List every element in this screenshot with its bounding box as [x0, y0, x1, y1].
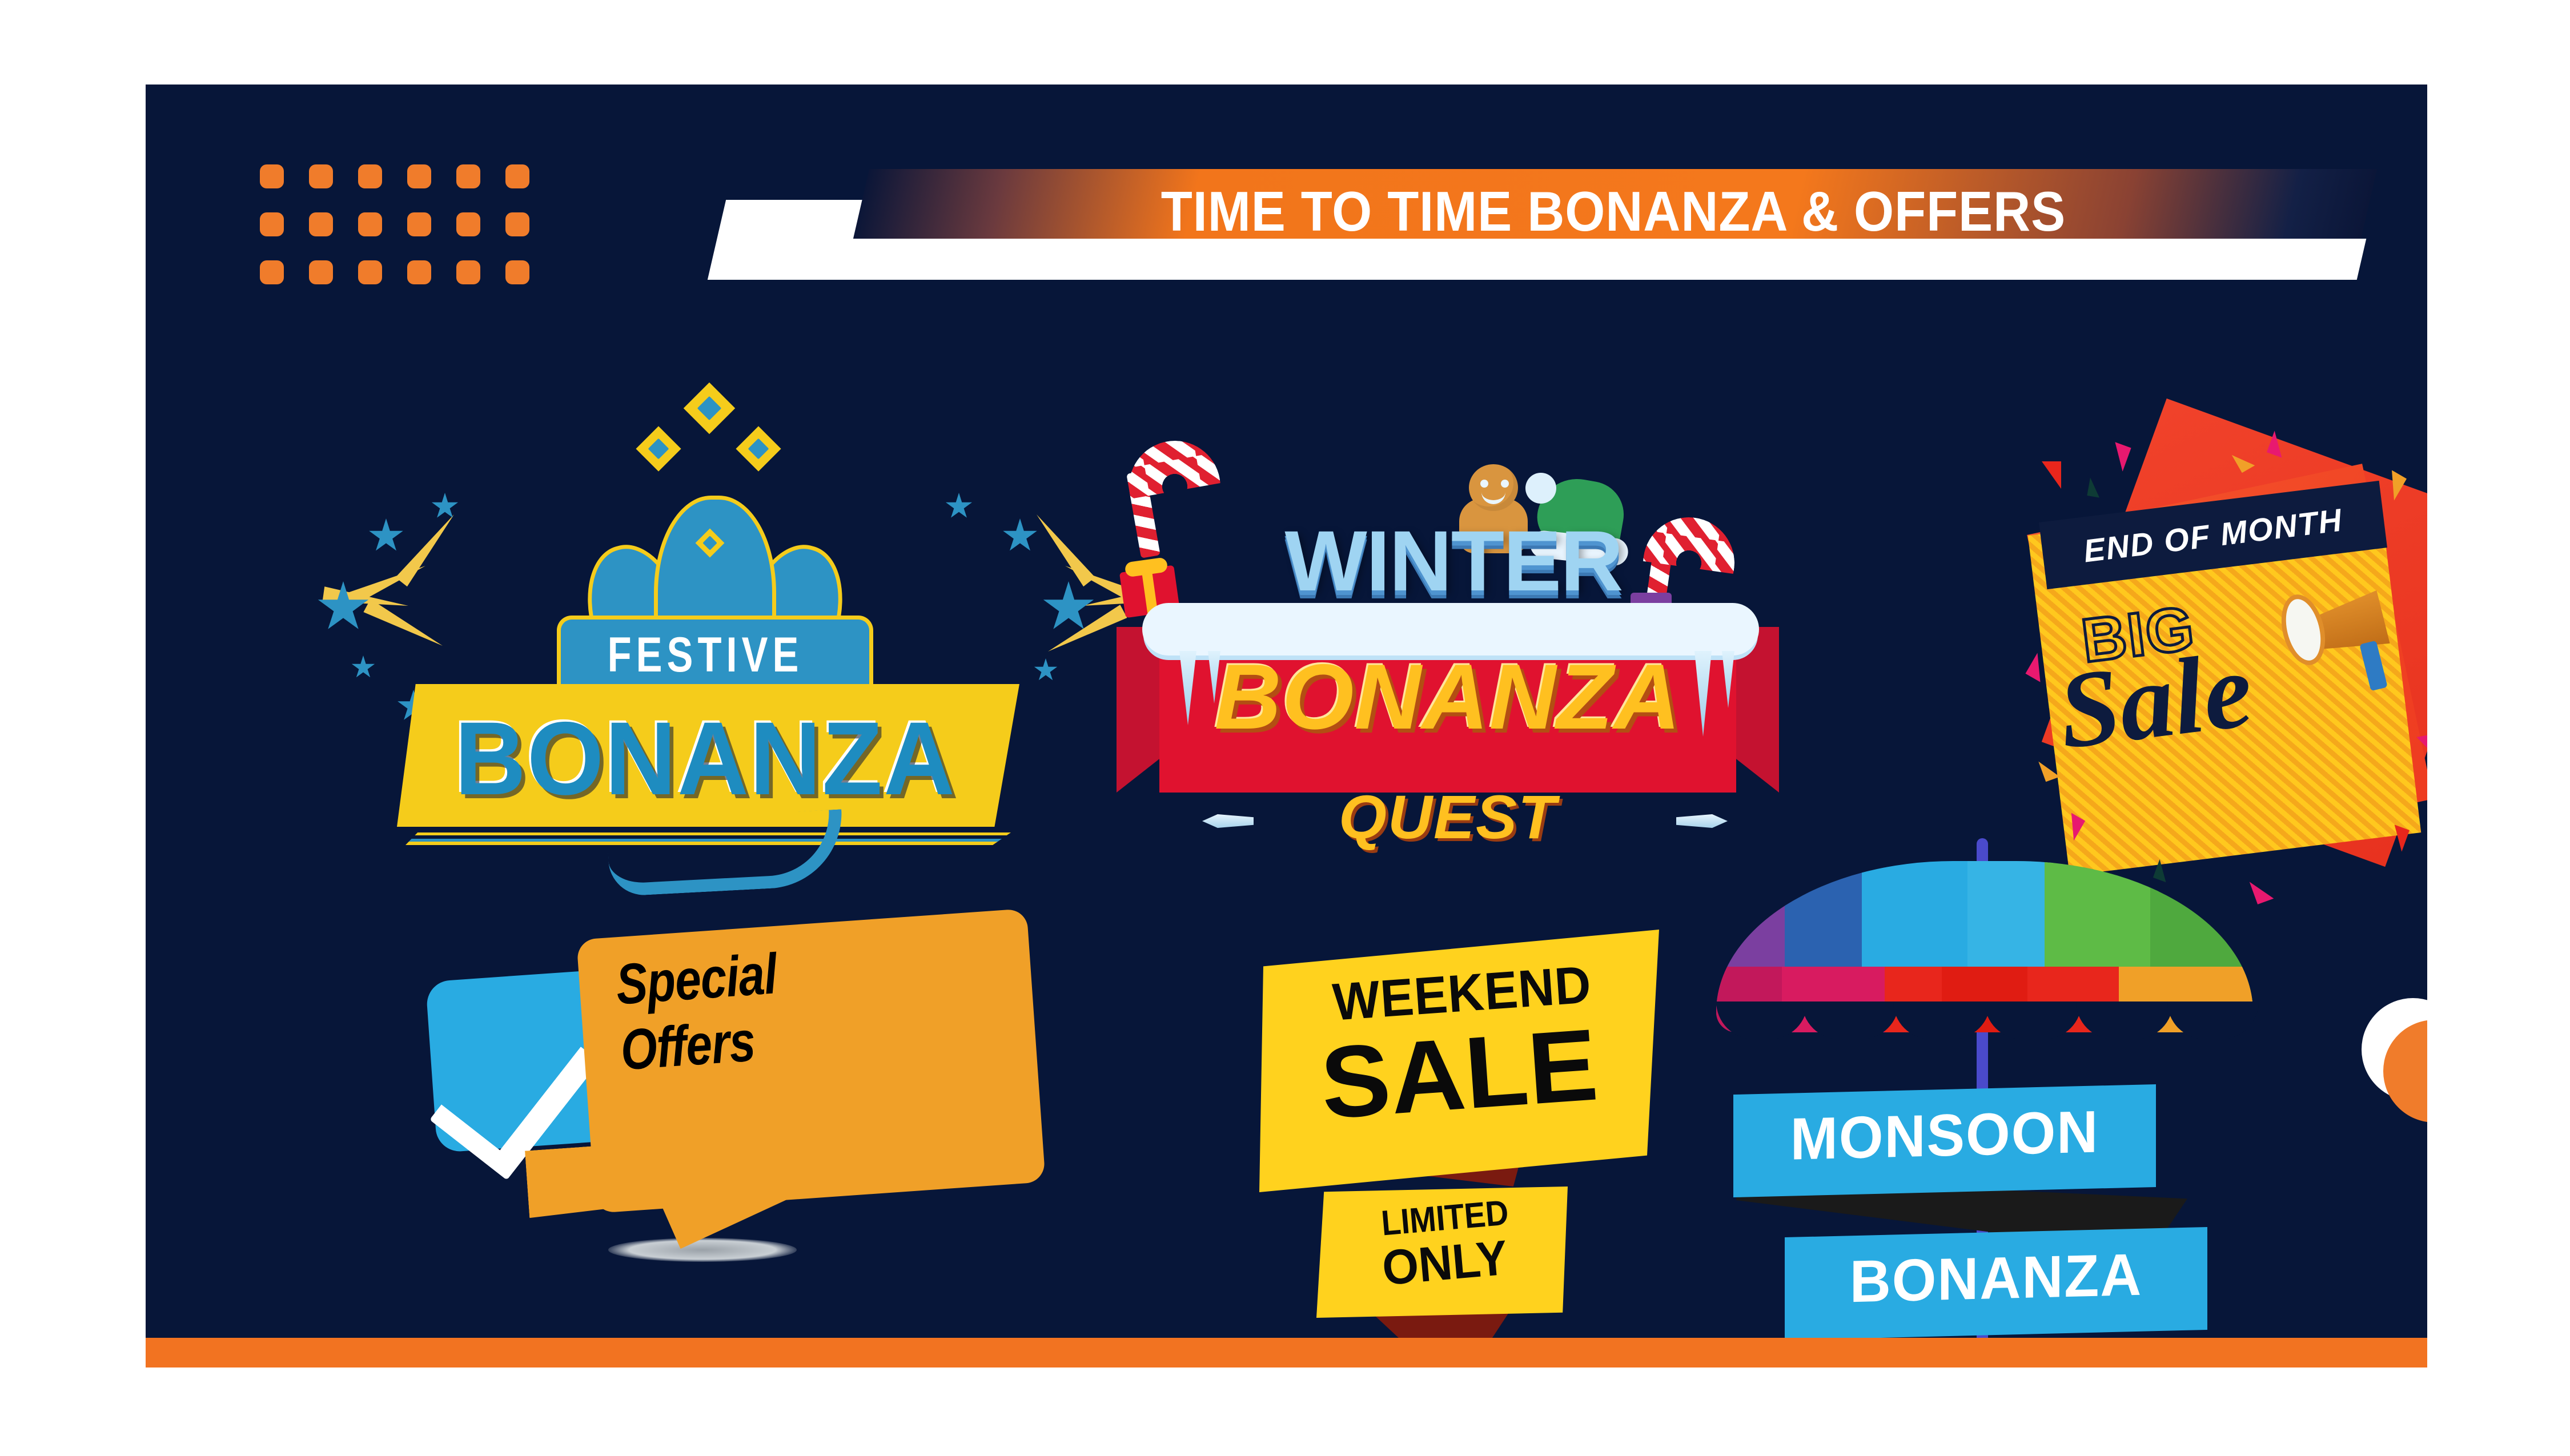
dot-grid-dot: [358, 212, 382, 236]
comet-tail: [1031, 510, 1095, 586]
star-icon: [1002, 518, 1038, 554]
dot-grid-dot: [505, 164, 529, 188]
dot-grid-dot: [260, 260, 284, 284]
dot-grid-dot: [456, 212, 480, 236]
bottom-accent-stripe: [146, 1338, 2427, 1367]
festive-label-main: BONANZA: [353, 698, 1058, 818]
dot-grid-dot: [309, 164, 333, 188]
dot-grid-dot: [456, 164, 480, 188]
santa-hat-pompom: [1525, 473, 1556, 504]
poster-canvas: TIME TO TIME BONANZA & OFFERS: [146, 85, 2427, 1367]
winter-label-main: BONANZA: [1162, 644, 1733, 750]
diamond-ornament: [636, 426, 681, 471]
dot-grid-dot: [407, 164, 431, 188]
comet-tail: [395, 510, 460, 586]
confetti-triangle: [2042, 461, 2061, 489]
dot-grid-dot: [505, 212, 529, 236]
monsoon-label-top: MONSOON: [1742, 1097, 2147, 1175]
diamond-ornament: [684, 383, 736, 435]
badge-festive-bonanza[interactable]: FESTIVE BONANZA: [334, 439, 1077, 884]
dot-grid-dot: [309, 212, 333, 236]
circles-logo: [2362, 998, 2427, 1147]
gingerbread-eye: [1501, 480, 1509, 488]
badge-weekend-sale[interactable]: WEEKEND SALE LIMITED ONLY: [1248, 924, 1705, 1367]
badge-monsoon-bonanza[interactable]: MONSOON BONANZA: [1710, 838, 2293, 1367]
dot-grid-dot: [358, 260, 382, 284]
gingerbread-eye: [1480, 480, 1488, 488]
poster-page: TIME TO TIME BONANZA & OFFERS: [0, 0, 2570, 1456]
diamond-ornament: [736, 426, 781, 471]
festive-swoosh-ribbon: [607, 809, 845, 896]
star-icon: [1034, 658, 1058, 682]
winter-label-top: WINTER: [1174, 512, 1733, 610]
special-offers-label: Special Offers: [614, 930, 950, 1083]
festive-label-top: FESTIVE: [408, 627, 1002, 683]
page-title: TIME TO TIME BONANZA & OFFERS: [920, 169, 2307, 254]
star-icon: [368, 518, 404, 554]
confetti-triangle: [2106, 442, 2131, 472]
dot-grid-dot: [407, 212, 431, 236]
dot-grid-dot: [505, 260, 529, 284]
badge-winter-bonanza-quest[interactable]: WINTER BONANZA QUEST: [1117, 439, 1813, 895]
dot-grid-dot: [358, 164, 382, 188]
winter-label-sub: QUEST: [1202, 781, 1693, 852]
confetti-triangle: [2087, 477, 2102, 497]
umbrella-icon: [1716, 861, 2253, 1055]
dot-grid-logo: [260, 164, 539, 293]
dot-grid-dot: [456, 260, 480, 284]
umbrella-scallop-edge: [1716, 1001, 2253, 1041]
badge-special-offers[interactable]: Special Offers: [431, 912, 1105, 1367]
dot-grid-dot: [260, 212, 284, 236]
special-offers-shadow: [608, 1238, 797, 1262]
monsoon-label-bottom: BONANZA: [1793, 1240, 2199, 1317]
star-icon: [945, 493, 973, 520]
dot-grid-dot: [309, 260, 333, 284]
header-banner: TIME TO TIME BONANZA & OFFERS: [717, 164, 2373, 313]
star-icon: [351, 655, 375, 679]
dot-grid-dot: [407, 260, 431, 284]
dot-grid-dot: [260, 164, 284, 188]
eom-label-sale: Sale: [2052, 627, 2259, 774]
